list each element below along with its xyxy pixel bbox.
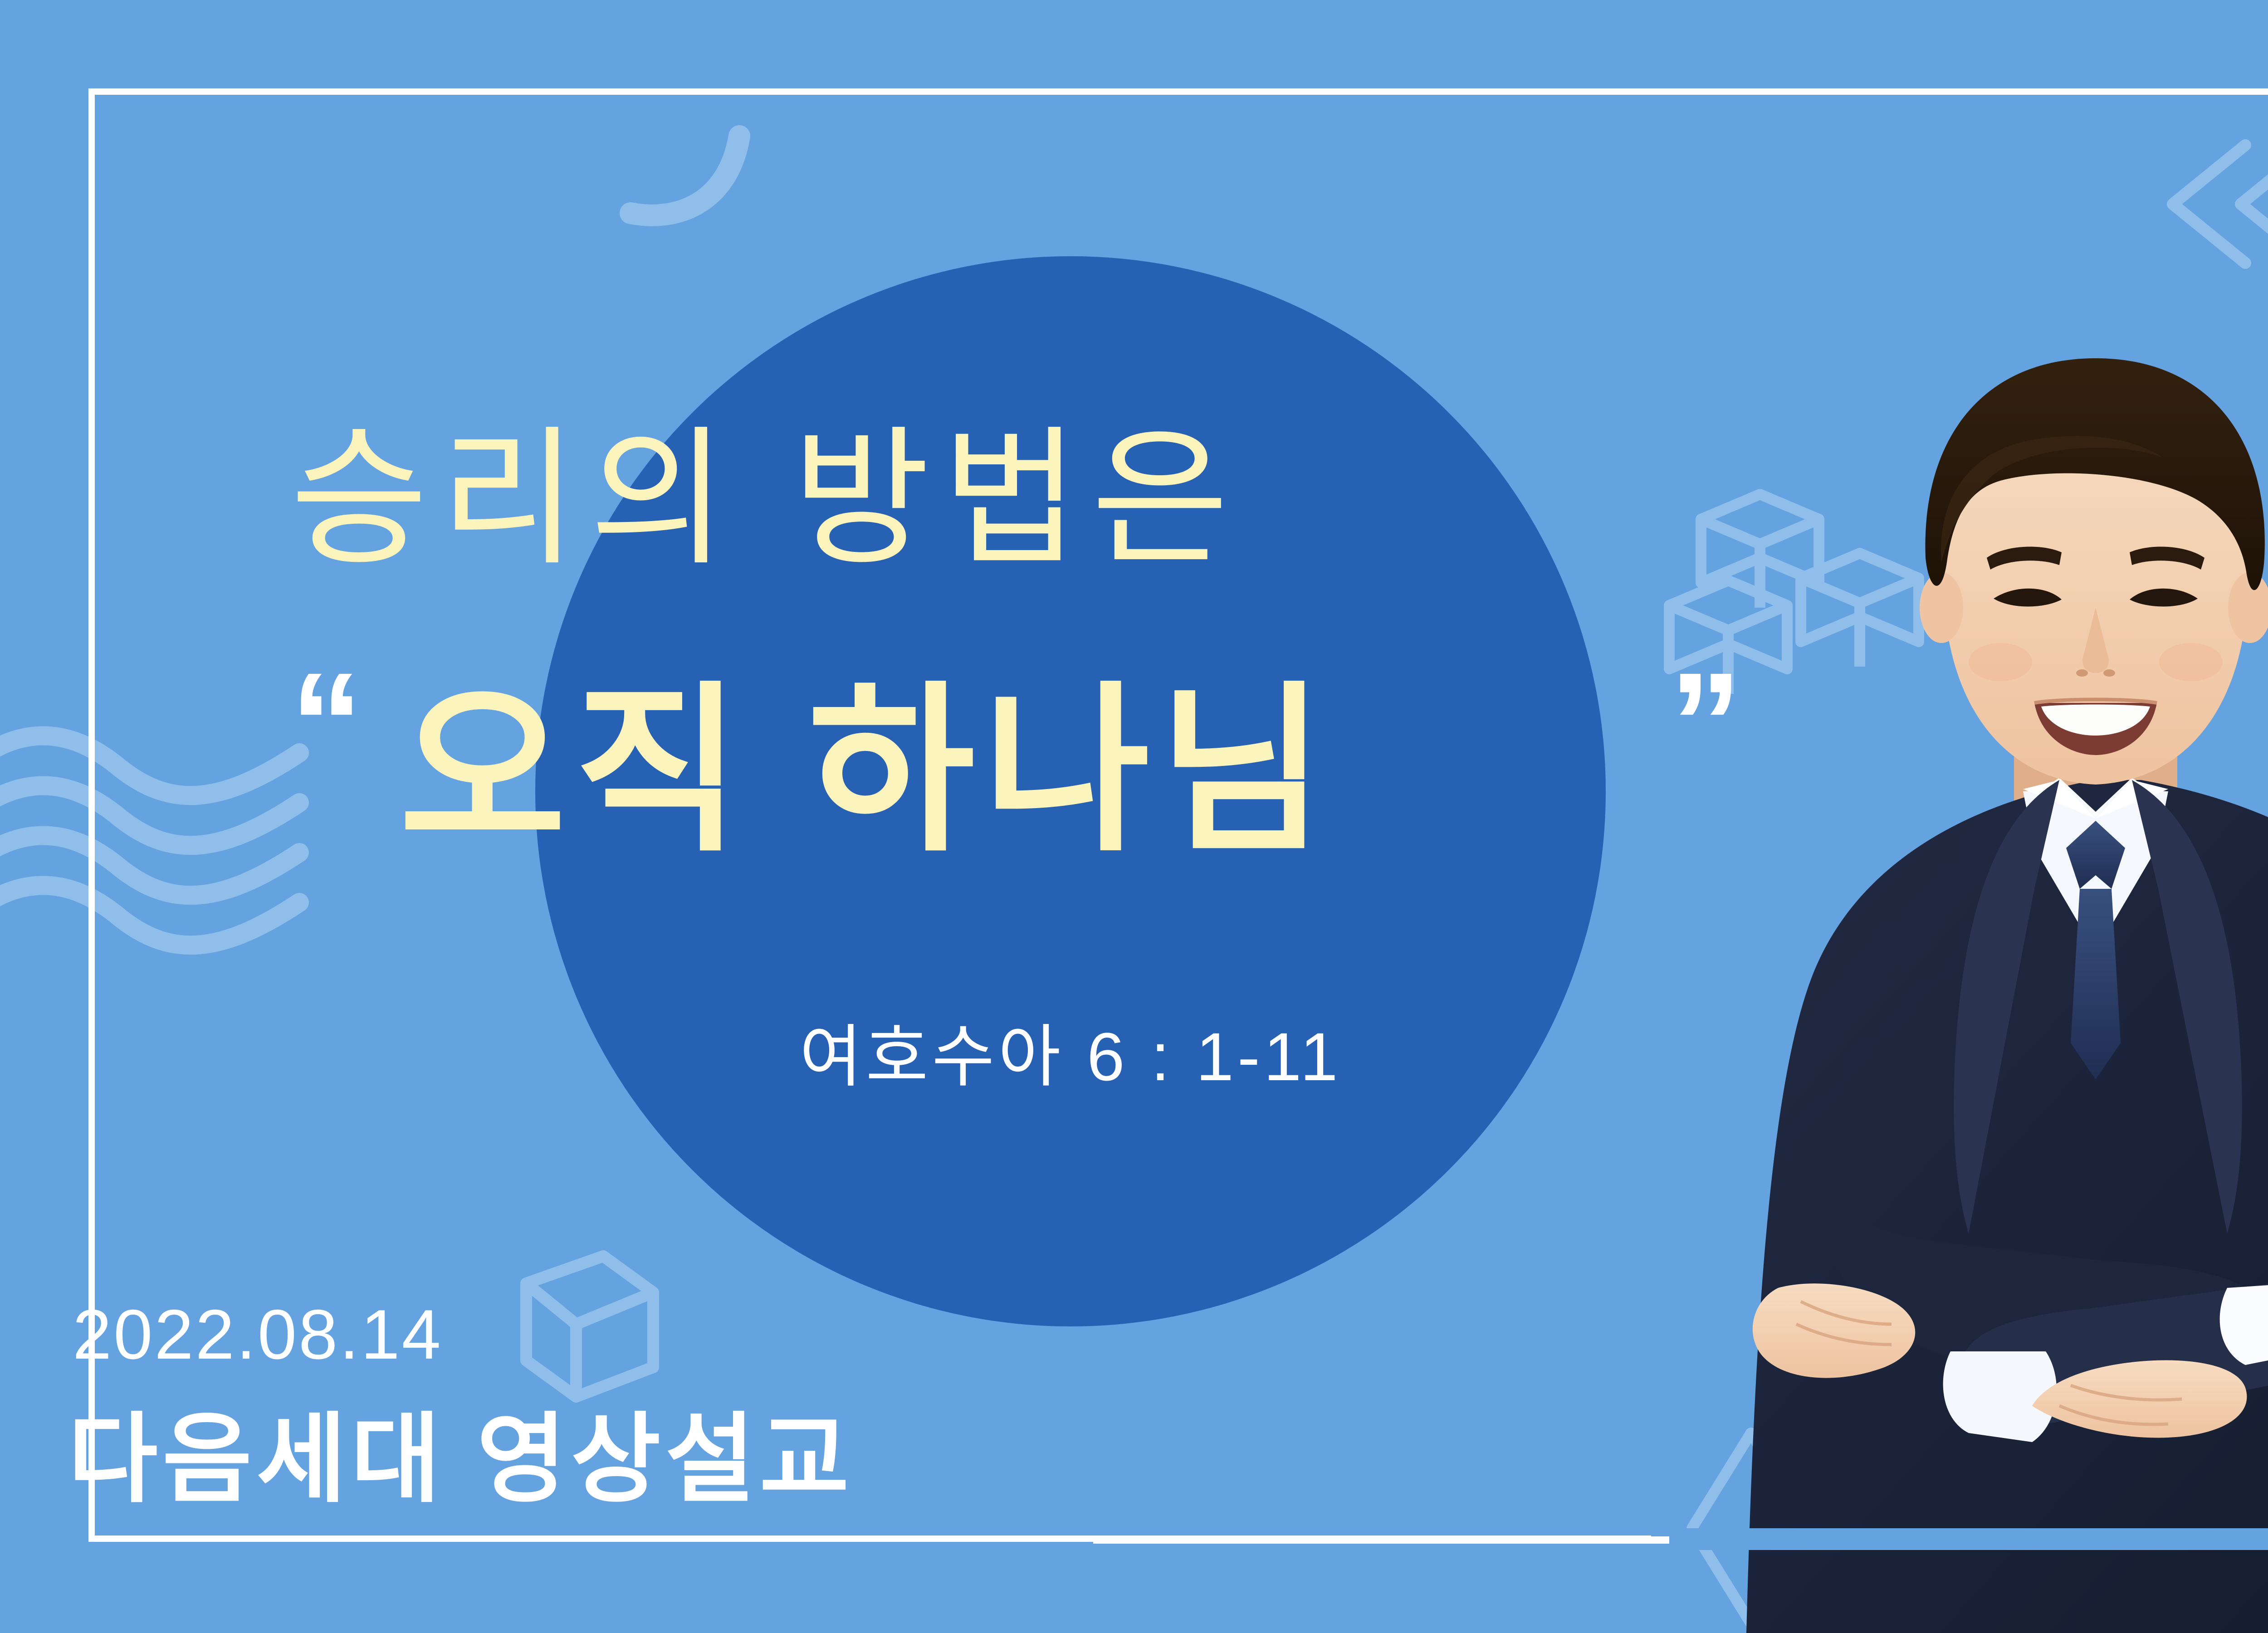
scripture-reference: 여호수아 6 : 1-11 [535,1023,1606,1091]
title-line-1: 승리의 방법은 [290,424,1860,574]
quote-open-mark: “ [290,651,363,796]
title-line-2: 오직 하나님 [399,680,1333,862]
quote-close-mark: ” [1669,651,1742,796]
frame-gap-bottom [1651,1528,2268,1550]
title-line-2-group: “ 오직 하나님 ” [290,694,1842,884]
footer-rule [1093,1536,1669,1544]
sermon-series-title: 다음세대 영상설교 [68,1410,854,1508]
thumbnail-canvas: 취학 승리의 방법은 “ 오직 하나님 ” 여호수아 6 : 1-11 2022… [0,0,2268,1633]
sermon-date: 2022.08.14 [73,1299,443,1370]
